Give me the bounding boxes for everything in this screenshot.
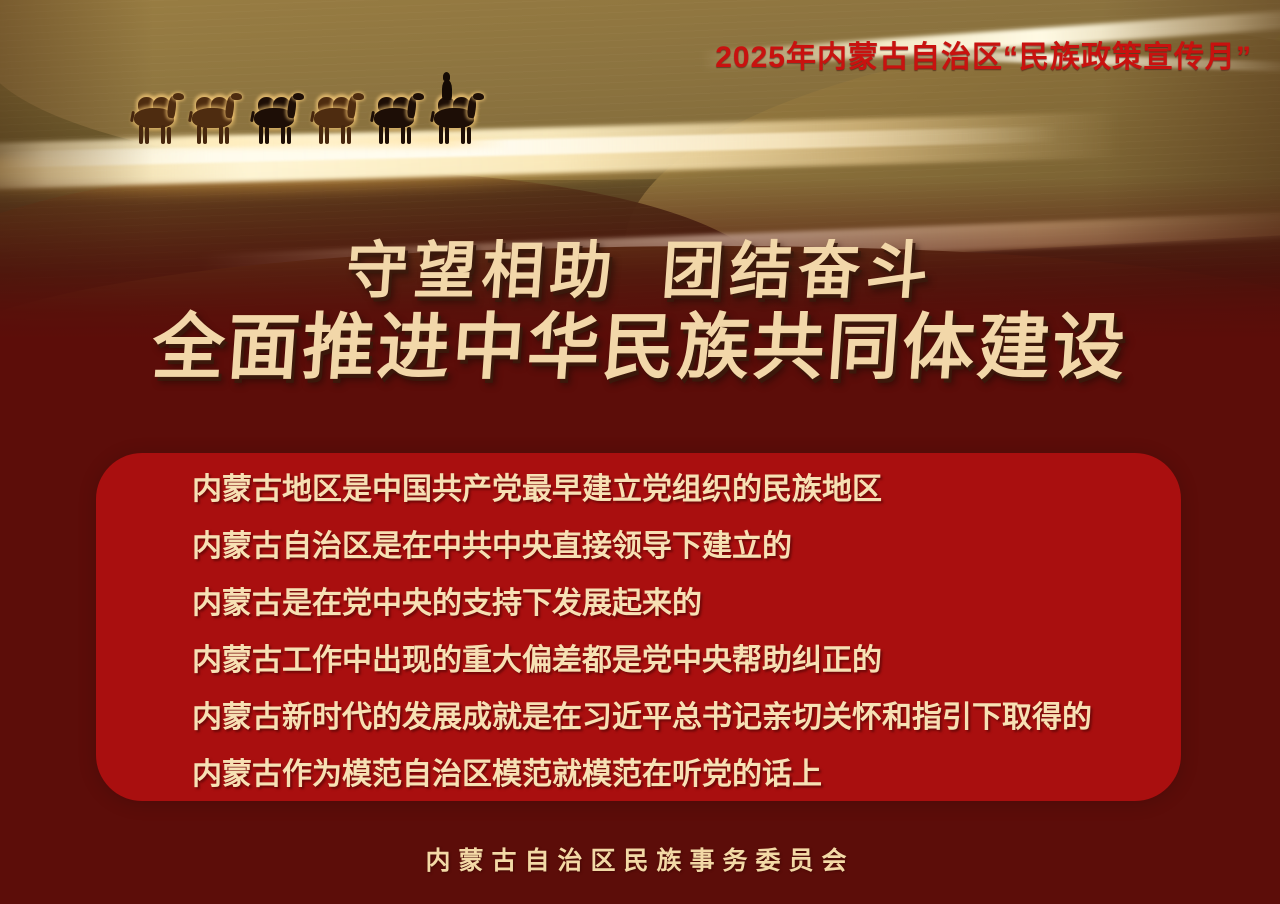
list-item: 内蒙古新时代的发展成就是在习近平总书记亲切关怀和指引下取得的 — [192, 703, 1141, 733]
list-item: 内蒙古自治区是在中共中央直接领导下建立的 — [192, 532, 1141, 562]
list-item: 内蒙古作为模范自治区模范就模范在听党的话上 — [192, 760, 1141, 790]
list-item: 内蒙古地区是中国共产党最早建立党组织的民族地区 — [192, 475, 1141, 505]
header-campaign-title: 2025年内蒙古自治区“民族政策宣传月” — [715, 32, 1252, 76]
statements-list: 内蒙古地区是中国共产党最早建立党组织的民族地区 内蒙古自治区是在中共中央直接领导… — [192, 475, 1141, 790]
footer-organization-name: 内蒙古自治区民族事务委员会 — [0, 841, 1280, 877]
footer: 内蒙古自治区民族事务委员会 — [0, 841, 1280, 877]
list-item: 内蒙古是在党中央的支持下发展起来的 — [192, 589, 1141, 619]
list-item: 内蒙古工作中出现的重大偏差都是党中央帮助纠正的 — [192, 646, 1141, 676]
statements-panel: 内蒙古地区是中国共产党最早建立党组织的民族地区 内蒙古自治区是在中共中央直接领导… — [96, 453, 1181, 801]
poster-root: 2025年内蒙古自治区“民族政策宣传月” 守望相助团结奋斗 全面推进中华民族共同… — [0, 0, 1280, 904]
